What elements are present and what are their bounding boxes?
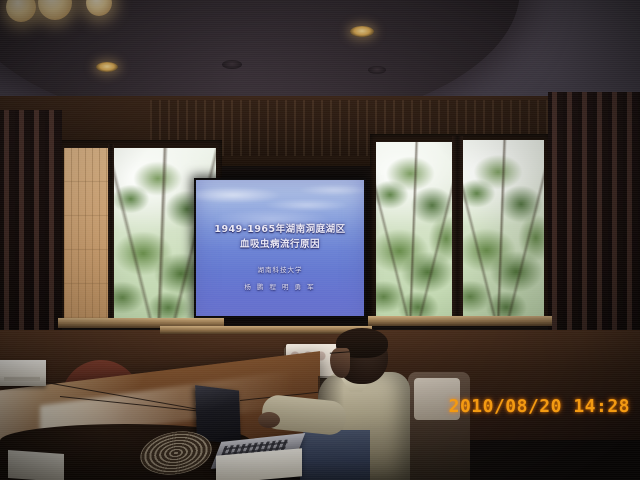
window-sill-center (160, 326, 372, 334)
camera-timestamp: 2010/08/20 14:28 (449, 396, 630, 417)
window-mullion (108, 144, 114, 322)
presenter-lap (300, 430, 370, 480)
window-glass-right-a (376, 142, 454, 318)
white-device (0, 360, 46, 386)
tree-branches (376, 142, 454, 318)
slide-authors: 杨 鹏 程 明 勇 军 (196, 281, 364, 291)
downlight-icon (368, 66, 386, 74)
presenter-hand (258, 412, 280, 428)
slide-organization: 湖南科技大学 (196, 264, 364, 274)
curtain-left (0, 110, 62, 360)
presentation-slide: 1949-1965年湖南洞庭湖区 血吸虫病流行原因 湖南科技大学 杨 鹏 程 明… (196, 180, 364, 316)
window-mullion (452, 136, 463, 322)
downlight-icon (350, 26, 374, 37)
projection-screen: 1949-1965年湖南洞庭湖区 血吸虫病流行原因 湖南科技大学 杨 鹏 程 明… (194, 178, 366, 318)
photograph: 1949-1965年湖南洞庭湖区 血吸虫病流行原因 湖南科技大学 杨 鹏 程 明… (0, 0, 640, 480)
paper-stack-left (8, 450, 64, 480)
window-sill-right (368, 316, 552, 326)
downlight-icon (222, 60, 242, 69)
downlight-icon (96, 62, 118, 72)
window-blind (64, 148, 108, 318)
slide-title-line-2: 血吸虫病流行原因 (196, 236, 364, 250)
slide-title-line-1: 1949-1965年湖南洞庭湖区 (196, 221, 364, 235)
window-glass-right-b (462, 140, 544, 318)
tree-branches (462, 140, 544, 318)
